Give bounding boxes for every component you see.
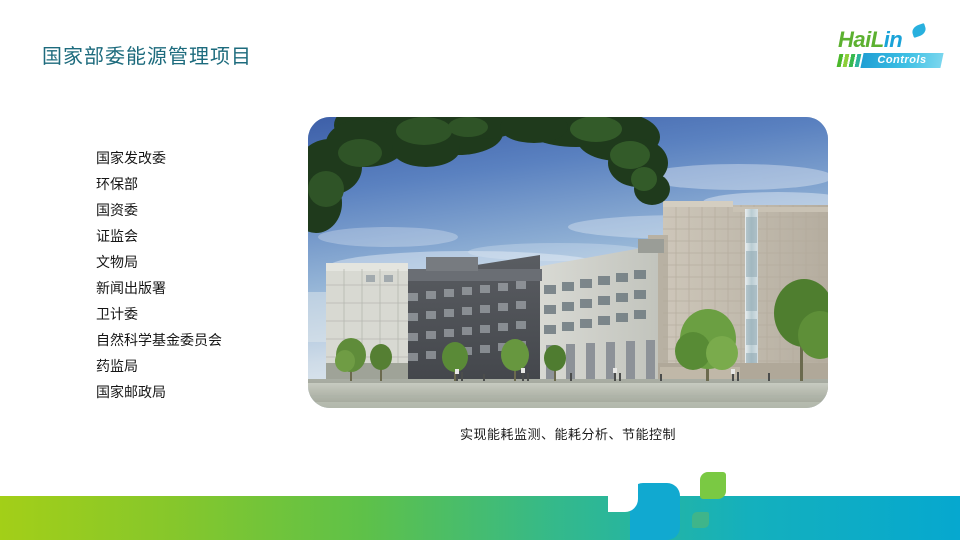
logo-tagline-banner: Controls [860, 53, 943, 68]
decorative-square-small [692, 512, 709, 528]
list-item: 自然科学基金委员会 [96, 327, 296, 353]
footer-notch-mask [608, 482, 638, 512]
slide-canvas: 国家部委能源管理项目 HaiLin Controls 国家发改委 环保部 国资委… [0, 0, 960, 540]
hailin-controls-logo: HaiLin Controls [838, 28, 942, 72]
list-item: 文物局 [96, 249, 296, 275]
logo-banner: Controls [838, 53, 942, 68]
logo-tagline-text: Controls [862, 53, 942, 68]
building-illustration [308, 117, 828, 408]
list-item: 证监会 [96, 223, 296, 249]
list-item: 国家发改委 [96, 145, 296, 171]
logo-wordmark-hai: HaiL [838, 27, 884, 52]
footer-gradient-bar [0, 496, 960, 540]
picture-caption: 实现能耗监测、能耗分析、节能控制 [308, 424, 828, 443]
office-building-rendering [308, 117, 828, 408]
list-item: 新闻出版署 [96, 275, 296, 301]
decorative-square-large [700, 472, 726, 499]
list-item: 药监局 [96, 353, 296, 379]
logo-wordmark: HaiLin [838, 28, 902, 52]
list-item: 环保部 [96, 171, 296, 197]
logo-bars-icon [837, 54, 862, 67]
list-item: 国资委 [96, 197, 296, 223]
ministry-list: 国家发改委 环保部 国资委 证监会 文物局 新闻出版署 卫计委 自然科学基金委员… [96, 145, 296, 405]
logo-wordmark-lin: in [884, 27, 903, 52]
list-item: 卫计委 [96, 301, 296, 327]
leaf-icon [911, 23, 928, 38]
page-title: 国家部委能源管理项目 [42, 40, 252, 69]
list-item: 国家邮政局 [96, 379, 296, 405]
